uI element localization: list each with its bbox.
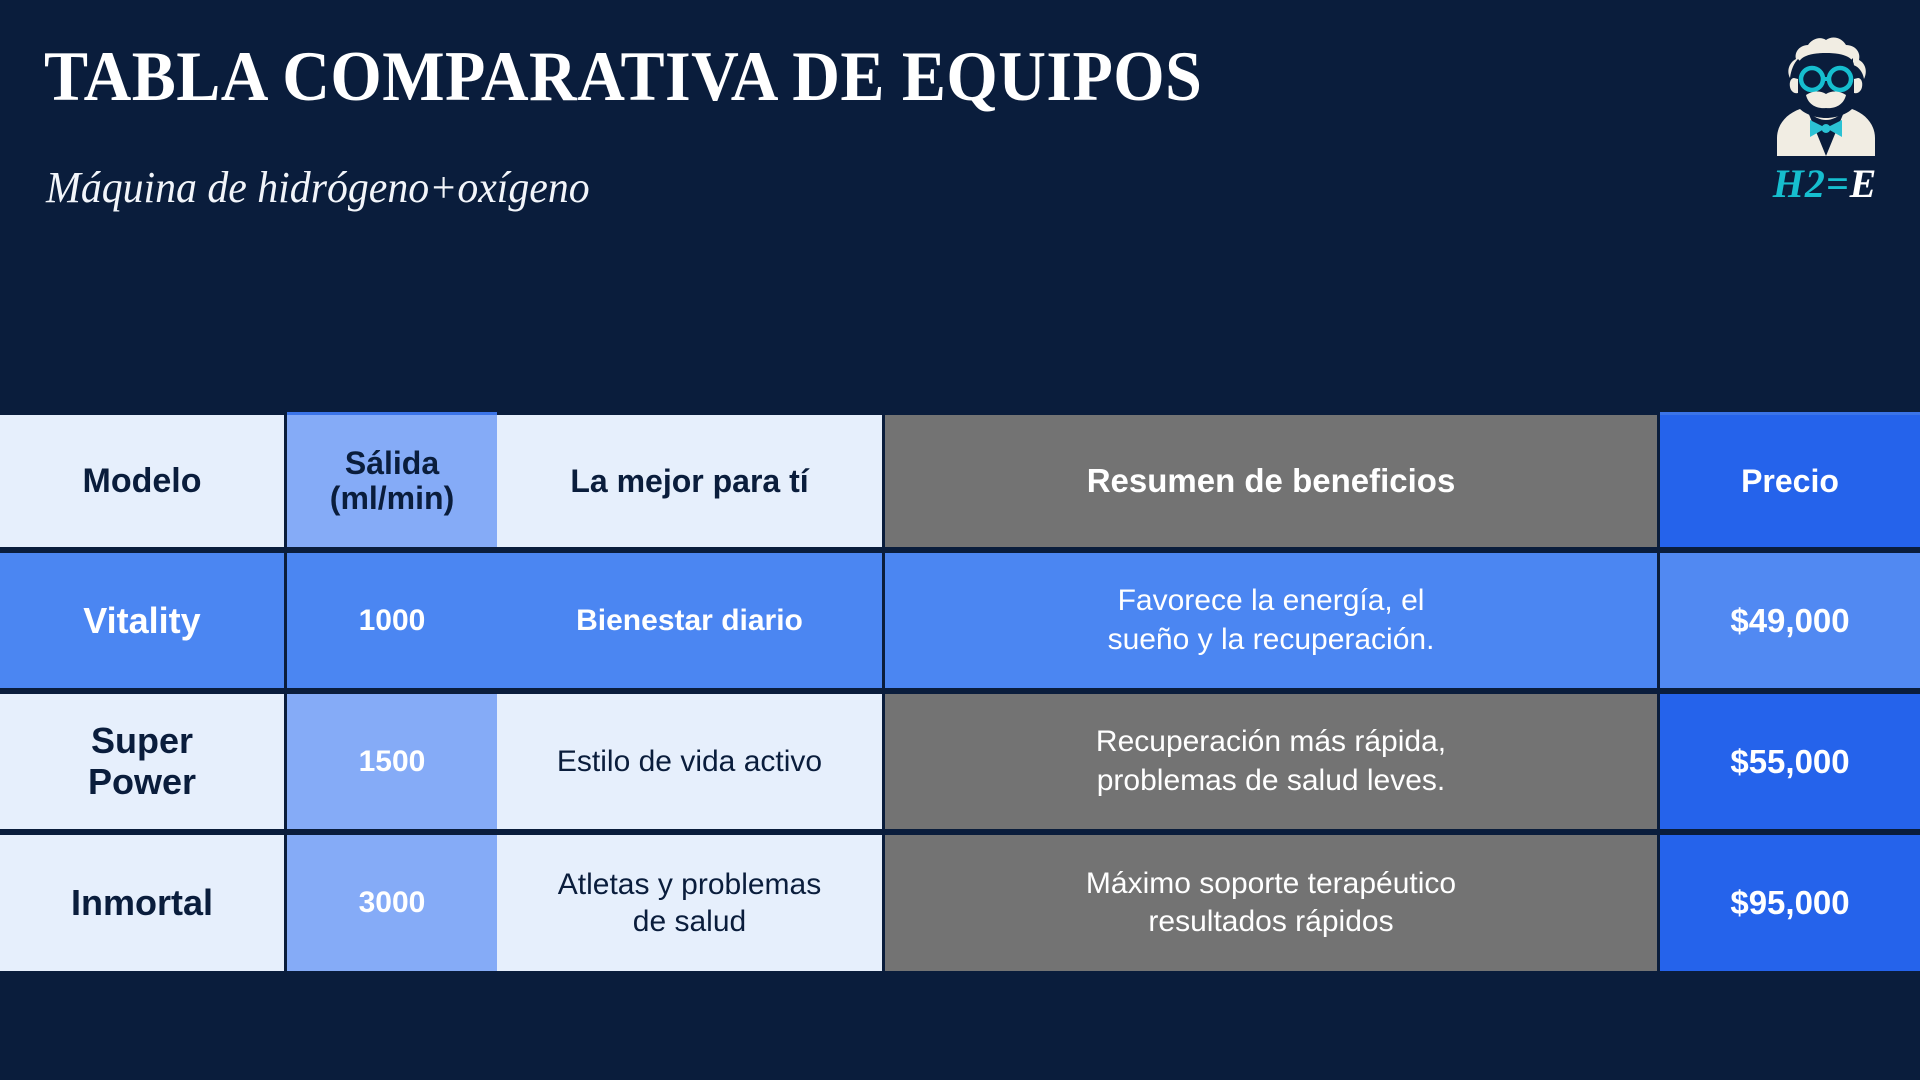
cell-resumen-beneficios: Favorece la energía, el sueño y la recup…: [885, 550, 1660, 691]
column-header-modelo: Modelo: [0, 412, 287, 550]
cell-modelo: Inmortal: [0, 832, 287, 974]
table-row: Vitality 1000 Bienestar diario Favorece …: [0, 550, 1920, 691]
cell-precio: $95,000: [1660, 832, 1920, 974]
column-header-salida-line1: Sálida: [345, 445, 439, 481]
column-header-mejor-para-ti: La mejor para tí: [497, 412, 885, 550]
page-title: TABLA COMPARATIVA DE EQUIPOS: [44, 42, 1202, 113]
table-row: Super Power 1500 Estilo de vida activo R…: [0, 691, 1920, 832]
resumen-line1: Favorece la energía, el: [1118, 584, 1425, 617]
cell-mejor-para-ti: Estilo de vida activo: [497, 691, 885, 832]
cell-modelo: Super Power: [0, 691, 287, 832]
logo-formula-left: H2=: [1773, 161, 1850, 206]
logo-formula-right: E: [1850, 161, 1878, 206]
mejor-line1: Atletas y problemas: [558, 868, 821, 901]
cell-salida: 3000: [287, 832, 497, 974]
column-header-salida-line2: (ml/min): [330, 480, 454, 516]
modelo-line1: Super: [91, 720, 193, 761]
resumen-line1: Recuperación más rápida,: [1096, 725, 1446, 758]
logo-formula: H2=E: [1760, 160, 1890, 207]
column-header-precio: Precio: [1660, 412, 1920, 550]
cell-precio: $49,000: [1660, 550, 1920, 691]
cell-precio: $55,000: [1660, 691, 1920, 832]
cell-resumen-beneficios: Recuperación más rápida, problemas de sa…: [885, 691, 1660, 832]
cell-salida: 1000: [287, 550, 497, 691]
brand-logo: H2=E: [1760, 32, 1890, 222]
resumen-line2: problemas de salud leves.: [1097, 764, 1446, 797]
resumen-line2: resultados rápidos: [1148, 905, 1393, 938]
page-subtitle: Máquina de hidrógeno+oxígeno: [46, 166, 590, 210]
resumen-line2: sueño y la recuperación.: [1108, 623, 1435, 656]
cell-modelo: Vitality: [0, 550, 287, 691]
cell-mejor-para-ti: Bienestar diario: [497, 550, 885, 691]
column-header-salida: Sálida (ml/min): [287, 412, 497, 550]
modelo-line2: Power: [88, 761, 196, 802]
cell-resumen-beneficios: Máximo soporte terapéutico resultados rá…: [885, 832, 1660, 974]
column-header-resumen-beneficios: Resumen de beneficios: [885, 412, 1660, 550]
slide-canvas: TABLA COMPARATIVA DE EQUIPOS Máquina de …: [0, 0, 1920, 1080]
comparison-table: Modelo Sálida (ml/min) La mejor para tí …: [0, 412, 1920, 974]
scientist-icon: [1760, 32, 1890, 160]
cell-mejor-para-ti: Atletas y problemas de salud: [497, 832, 885, 974]
cell-salida: 1500: [287, 691, 497, 832]
table-header-row: Modelo Sálida (ml/min) La mejor para tí …: [0, 412, 1920, 550]
table-row: Inmortal 3000 Atletas y problemas de sal…: [0, 832, 1920, 974]
mejor-line2: de salud: [633, 905, 746, 938]
resumen-line1: Máximo soporte terapéutico: [1086, 867, 1456, 900]
